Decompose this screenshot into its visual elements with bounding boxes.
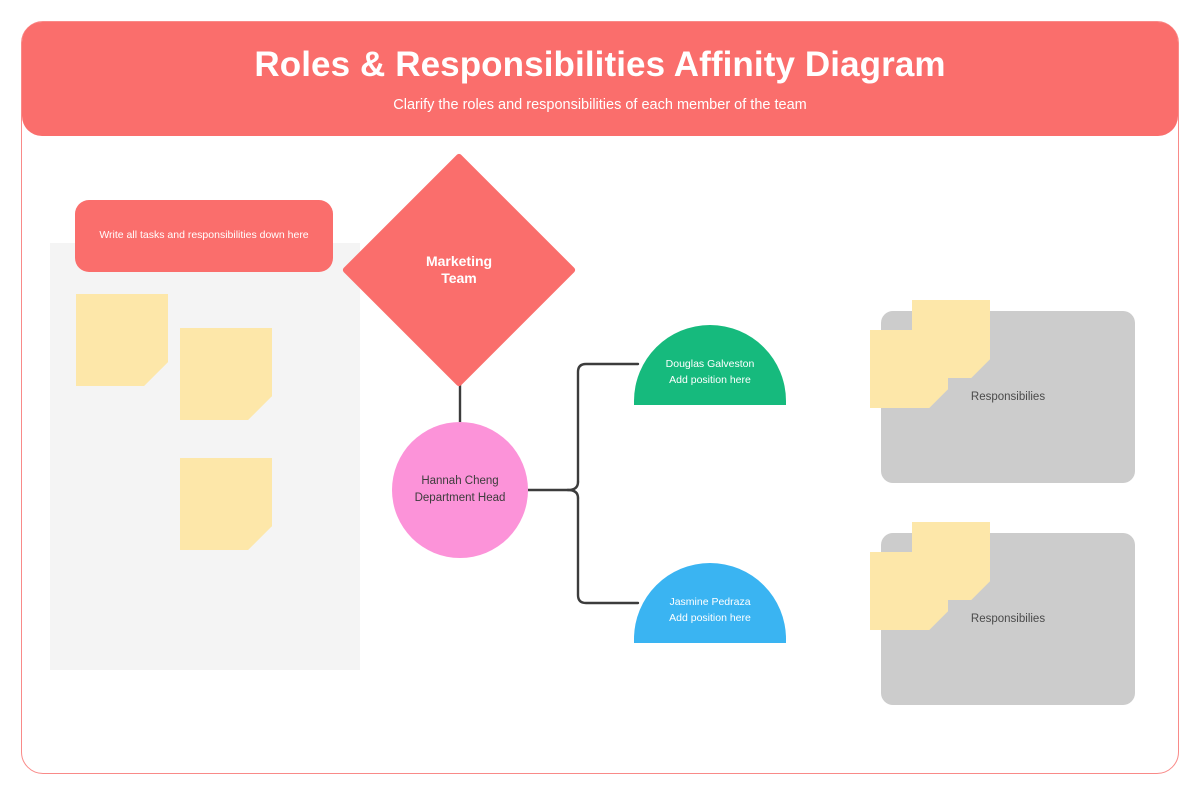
node-member-douglas-galveston[interactable]: Douglas Galveston Add position here	[634, 325, 786, 405]
member-name: Jasmine Pedraza	[669, 594, 750, 610]
responsibilities-panel[interactable]: Responsibilies	[881, 533, 1135, 705]
node-department-head[interactable]: Hannah Cheng Department Head	[392, 422, 528, 558]
responsibilities-panel-label: Responsibilies	[881, 311, 1135, 483]
page-title: Roles & Responsibilities Affinity Diagra…	[254, 45, 945, 85]
responsibilities-panel-label: Responsibilies	[881, 533, 1135, 705]
responsibilities-panel[interactable]: Responsibilies	[881, 311, 1135, 483]
instruction-note[interactable]: Write all tasks and responsibilities dow…	[75, 200, 333, 272]
member-role: Add position here	[669, 372, 751, 388]
sticky-note[interactable]	[180, 458, 272, 550]
connector-head-to-member-1	[578, 364, 638, 482]
node-member-jasmine-pedraza[interactable]: Jasmine Pedraza Add position here	[634, 563, 786, 643]
node-department-head-label: Hannah Cheng Department Head	[415, 473, 506, 506]
connector-head-to-member-2	[578, 498, 638, 603]
header-banner: Roles & Responsibilities Affinity Diagra…	[22, 22, 1178, 136]
sticky-note[interactable]	[76, 294, 168, 386]
node-marketing-team-label: Marketing Team	[376, 187, 542, 353]
node-marketing-team[interactable]: Marketing Team	[376, 187, 542, 353]
member-name: Douglas Galveston	[666, 356, 755, 372]
instruction-note-label: Write all tasks and responsibilities dow…	[99, 229, 308, 243]
affinity-diagram-canvas: Roles & Responsibilities Affinity Diagra…	[0, 0, 1200, 795]
connector-junction-lower	[568, 490, 578, 498]
page-subtitle: Clarify the roles and responsibilities o…	[393, 97, 806, 113]
connector-junction-upper	[568, 482, 578, 490]
member-role: Add position here	[669, 610, 751, 626]
sticky-note[interactable]	[180, 328, 272, 420]
